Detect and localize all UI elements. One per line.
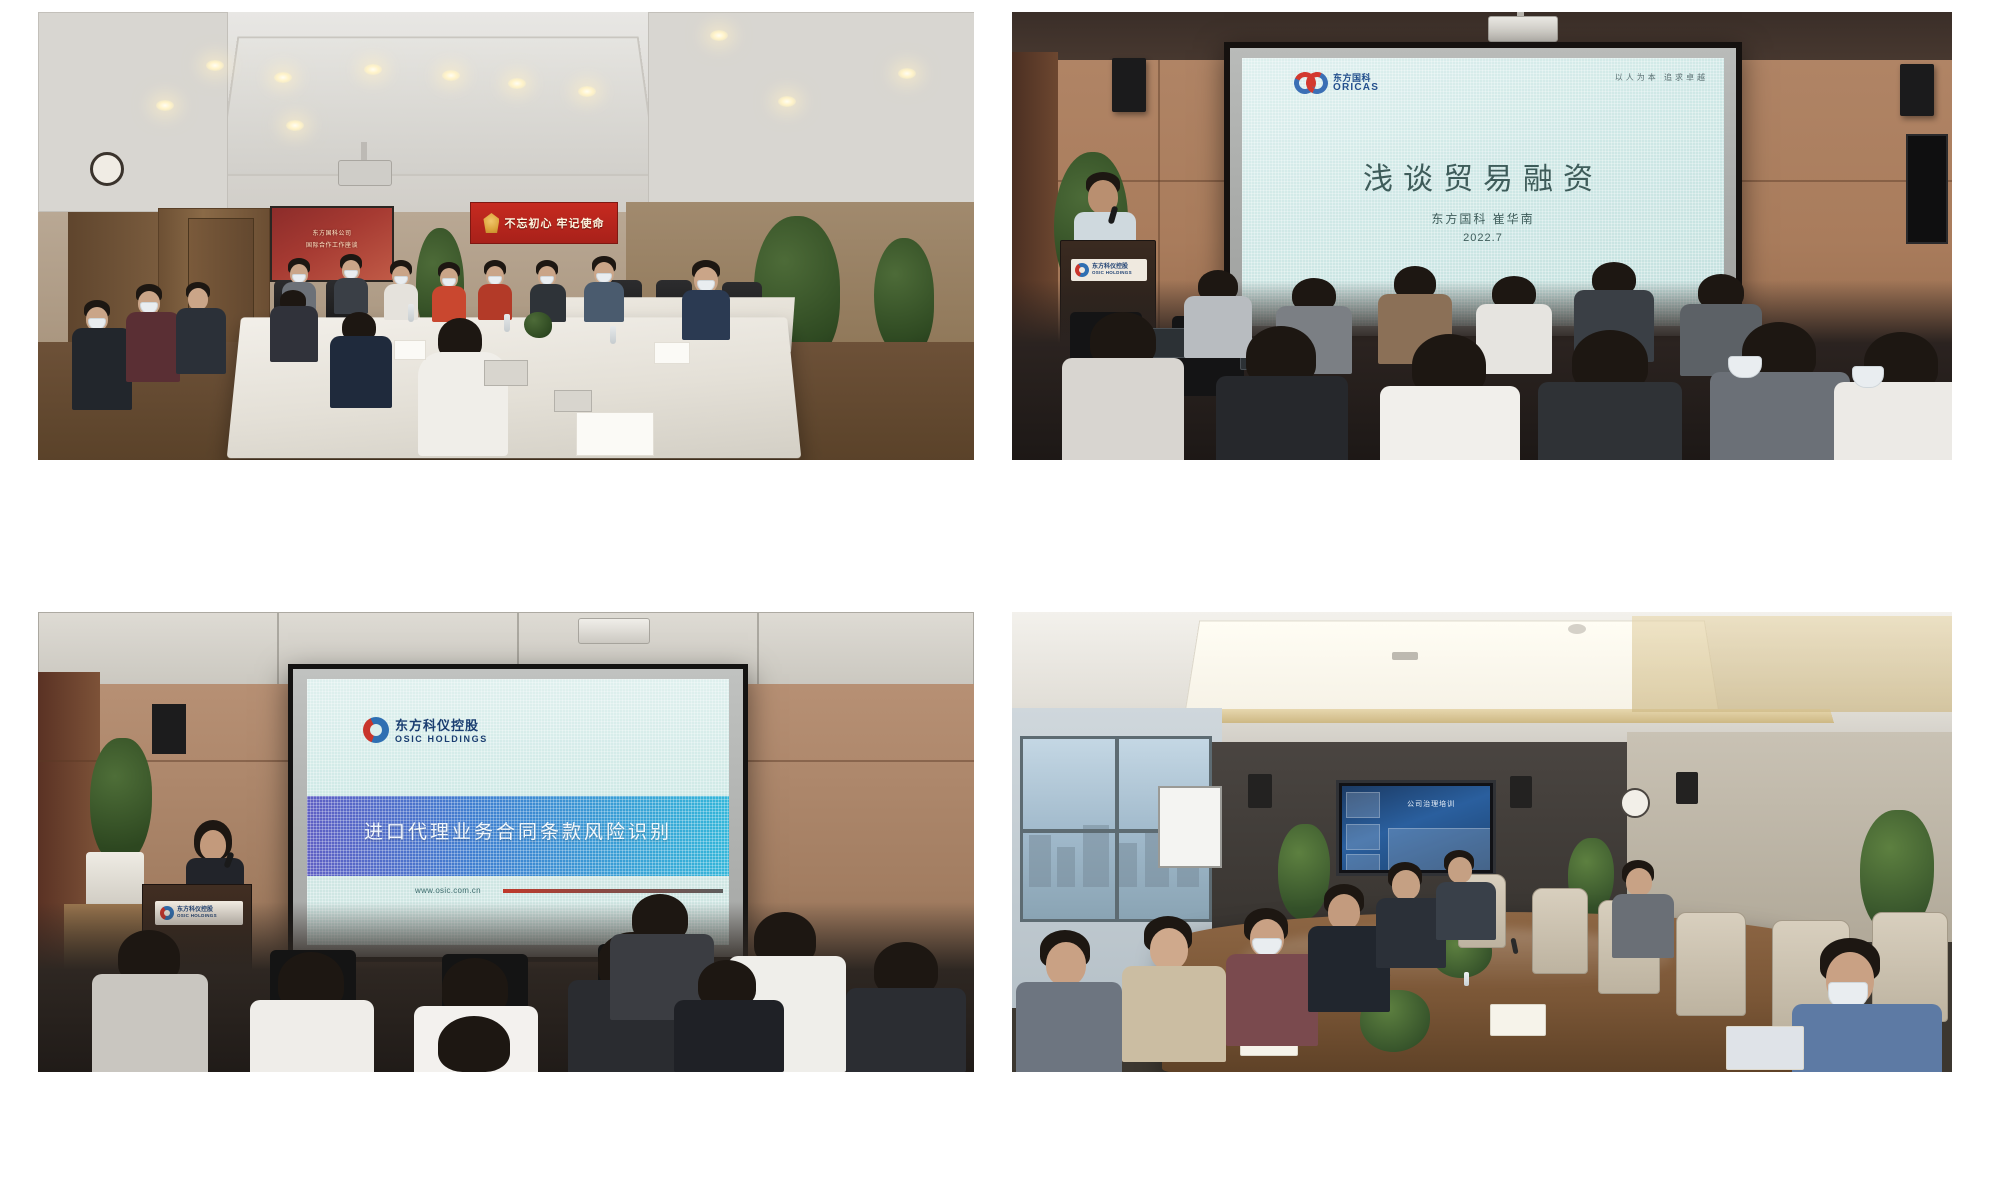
downlight-icon: [508, 78, 526, 89]
osic-logo-cn: 东方科仪控股: [395, 715, 488, 734]
oricas-logo-en: ORICAS: [1333, 83, 1379, 93]
whiteboard: [1158, 786, 1222, 868]
slide-date: 2022.7: [1242, 232, 1724, 244]
osic-mark-icon: [363, 717, 389, 743]
slide-title: 浅谈贸易融资: [1242, 154, 1724, 198]
water-bottle: [610, 326, 616, 344]
downlight-icon: [578, 86, 596, 97]
plant-icon: [524, 312, 552, 338]
video-conference-title: 公司治理培训: [1407, 799, 1455, 809]
water-bottle: [408, 304, 414, 322]
speaker-icon: [1510, 776, 1532, 808]
ceiling-light-strip: [1632, 616, 1952, 712]
ceiling-vent: [1392, 652, 1418, 660]
downlight-icon: [286, 120, 304, 131]
tablet-device: [1726, 1026, 1804, 1070]
photo-collage: 东方国科公司 国际合作工作座谈 不忘初心 牢记使命: [0, 0, 2000, 1200]
projector-icon: [338, 160, 392, 186]
slide-divider-rule: [503, 889, 723, 893]
downlight-icon: [898, 68, 916, 79]
screen-title-line2: 国际合作工作座谈: [272, 242, 392, 251]
document: [654, 342, 690, 364]
plant-icon: [874, 238, 934, 358]
photo-bottom-left: 东方科仪控股 OSIC HOLDINGS 进口代理业务合同条款风险识别 www.…: [0, 612, 1012, 1200]
speaker-icon: [1676, 772, 1698, 804]
speaker-icon: [152, 704, 186, 754]
slide-url: www.osic.com.cn: [415, 886, 481, 895]
banner-text: 不忘初心 牢记使命: [504, 215, 604, 231]
downlight-icon: [206, 60, 224, 71]
photo-top-right-frame: 东方国科 ORICAS 以人为本 追求卓越 浅谈贸易融资 东方国科 崔华南 20…: [1012, 12, 1952, 460]
podium-plate: 东方科仪控股 OSIC HOLDINGS: [1071, 259, 1147, 281]
photo-top-left: 东方国科公司 国际合作工作座谈 不忘初心 牢记使命: [0, 0, 1012, 612]
smoke-detector-icon: [1568, 624, 1586, 634]
slide-presenter: 东方国科 崔华南: [1242, 210, 1724, 227]
podium-plate-en: OSIC HOLDINGS: [1092, 271, 1132, 276]
speaker-icon: [1900, 64, 1934, 116]
slide-title: 进口代理业务合同条款风险识别: [307, 817, 729, 844]
speaker-icon: [1112, 58, 1146, 112]
document: [576, 412, 654, 456]
oricas-mark-icon: [1294, 72, 1328, 94]
screen-title-line1: 东方国科公司: [272, 230, 392, 239]
laptop-icon: [484, 360, 528, 386]
ceiling-panel: [648, 12, 974, 212]
clock-icon: [90, 152, 124, 186]
downlight-icon: [156, 100, 174, 111]
ceiling-panel: [38, 12, 228, 212]
speaker-icon: [1248, 774, 1272, 808]
osic-logo-en: OSIC HOLDINGS: [395, 734, 488, 744]
osic-mark-icon: [1075, 263, 1089, 277]
notebook: [1490, 1004, 1546, 1036]
photo-bottom-right: 公司治理培训: [1012, 612, 2000, 1200]
projector-icon: [578, 618, 650, 644]
photo-bottom-left-frame: 东方科仪控股 OSIC HOLDINGS 进口代理业务合同条款风险识别 www.…: [38, 612, 974, 1072]
photo-top-right: 东方国科 ORICAS 以人为本 追求卓越 浅谈贸易融资 东方国科 崔华南 20…: [1012, 0, 2000, 612]
downlight-icon: [442, 70, 460, 81]
chair: [1676, 912, 1746, 1016]
chair: [1532, 888, 1588, 974]
document: [394, 340, 426, 360]
projector-icon: [1488, 16, 1558, 42]
clock-icon: [1620, 788, 1650, 818]
osic-logo: 东方科仪控股 OSIC HOLDINGS: [363, 715, 488, 744]
wall-banner: 不忘初心 牢记使命: [470, 202, 618, 244]
oricas-logo: 东方国科 ORICAS: [1294, 72, 1379, 94]
emblem-icon: [483, 213, 499, 233]
downlight-icon: [778, 96, 796, 107]
water-bottle: [504, 314, 510, 332]
wall-display: [1906, 134, 1948, 244]
downlight-icon: [710, 30, 728, 41]
planter-pot: [86, 852, 144, 908]
downlight-icon: [274, 72, 292, 83]
slide-motto: 以人为本 追求卓越: [1615, 72, 1708, 83]
laptop-icon: [554, 390, 592, 412]
photo-bottom-right-frame: 公司治理培训: [1012, 612, 1952, 1072]
water-bottle: [1464, 972, 1469, 986]
photo-top-left-frame: 东方国科公司 国际合作工作座谈 不忘初心 牢记使命: [38, 12, 974, 460]
ceiling-recess-panel: [218, 37, 659, 176]
downlight-icon: [364, 64, 382, 75]
